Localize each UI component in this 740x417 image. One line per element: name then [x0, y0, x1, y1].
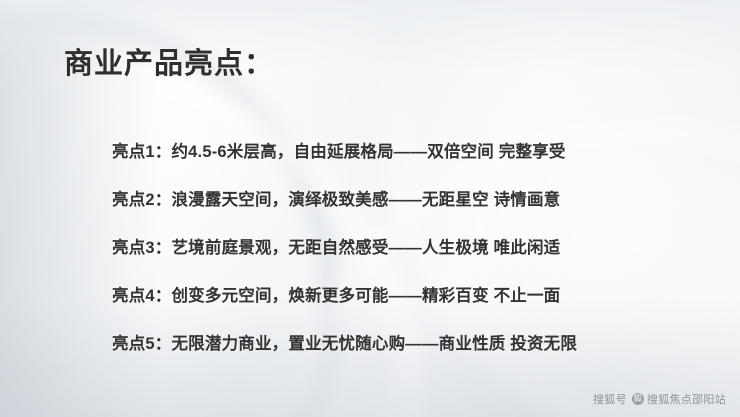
- highlight-list: 亮点1： 约4.5-6米层高，自由延展格局——双倍空间 完整享受 亮点2： 浪漫…: [112, 126, 712, 366]
- list-item: 亮点2： 浪漫露天空间，演绎极致美感——无距星空 诗情画意: [112, 174, 712, 222]
- highlight-label: 亮点4：: [112, 282, 171, 306]
- watermark-prefix: 搜狐号: [593, 391, 627, 407]
- highlight-text: 艺境前庭景观，无距自然感受——人生极境 唯此闲适: [171, 234, 560, 258]
- list-item: 亮点1： 约4.5-6米层高，自由延展格局——双倍空间 完整享受: [112, 126, 712, 174]
- highlight-text: 约4.5-6米层高，自由延展格局——双倍空间 完整享受: [171, 138, 565, 162]
- highlight-label: 亮点5：: [112, 330, 171, 354]
- highlight-text: 浪漫露天空间，演绎极致美感——无距星空 诗情画意: [171, 186, 560, 210]
- sohu-logo-icon: 狐: [632, 393, 644, 405]
- list-item: 亮点3： 艺境前庭景观，无距自然感受——人生极境 唯此闲适: [112, 222, 712, 270]
- highlight-label: 亮点3：: [112, 234, 171, 258]
- watermark-account-name: 搜狐焦点邵阳站: [647, 391, 726, 407]
- highlight-label: 亮点1：: [112, 138, 171, 162]
- list-item: 亮点5： 无限潜力商业，置业无忧随心购——商业性质 投资无限: [112, 318, 712, 366]
- watermark: 搜狐号 狐 搜狐焦点邵阳站: [593, 391, 726, 407]
- page-title: 商业产品亮点：: [64, 40, 274, 82]
- list-item: 亮点4： 创变多元空间，焕新更多可能——精彩百变 不止一面: [112, 270, 712, 318]
- highlight-text: 无限潜力商业，置业无忧随心购——商业性质 投资无限: [171, 330, 577, 354]
- highlight-text: 创变多元空间，焕新更多可能——精彩百变 不止一面: [171, 282, 560, 306]
- presentation-slide: 商业产品亮点： 亮点1： 约4.5-6米层高，自由延展格局——双倍空间 完整享受…: [0, 0, 740, 417]
- highlight-label: 亮点2：: [112, 186, 171, 210]
